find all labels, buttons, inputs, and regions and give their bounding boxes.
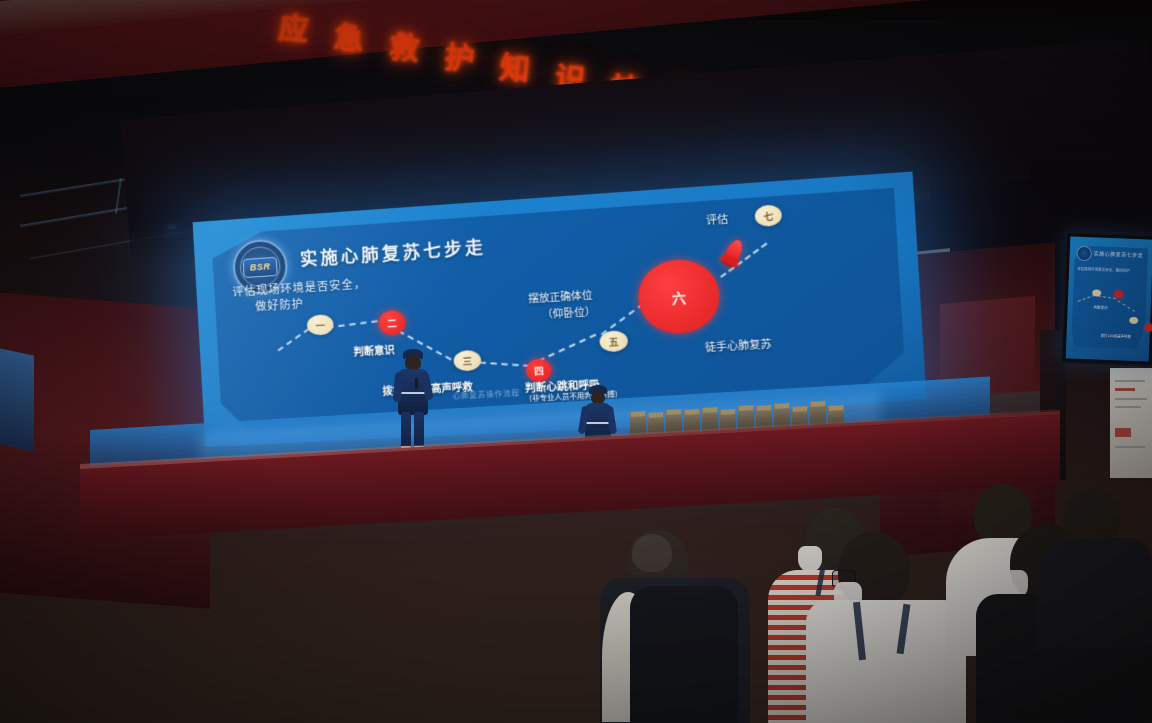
step-node-5-num: 五 [608, 334, 619, 348]
step-label-7: 评估 [706, 210, 729, 227]
notice-board [1110, 368, 1152, 478]
step-label-2: 判断意识 [353, 341, 395, 359]
left-blue-lit-object [0, 348, 34, 451]
bsr-logo-text: BSR [250, 261, 271, 272]
step-node-7-num: 七 [763, 208, 774, 222]
step-node-4-num: 四 [534, 363, 544, 377]
handheld-microphone [415, 378, 418, 389]
step-node-3-num: 三 [462, 354, 472, 368]
step-label-6-position-note: （仰卧位） [542, 303, 597, 322]
step-node-2-num: 二 [387, 316, 397, 330]
led-char: 应 [277, 14, 310, 47]
step-node-1-num: 一 [315, 318, 325, 332]
auditorium-photo: 应 急 救 护 知 识 技 能 培 训 [0, 0, 1152, 723]
led-char: 护 [443, 43, 476, 76]
monitor-caption-1: 判断意识 [1094, 305, 1108, 311]
led-char: 知 [498, 54, 531, 87]
instructor-head [405, 356, 421, 370]
led-char: 急 [332, 23, 365, 56]
led-char: 救 [388, 33, 421, 66]
right-wall-repeater-monitor: 实施心肺复苏七步走 评估现场环境是否安全，做好防护 判断意识 拨打120或高声呼… [1061, 231, 1152, 366]
step-node-6-num: 六 [671, 286, 686, 307]
